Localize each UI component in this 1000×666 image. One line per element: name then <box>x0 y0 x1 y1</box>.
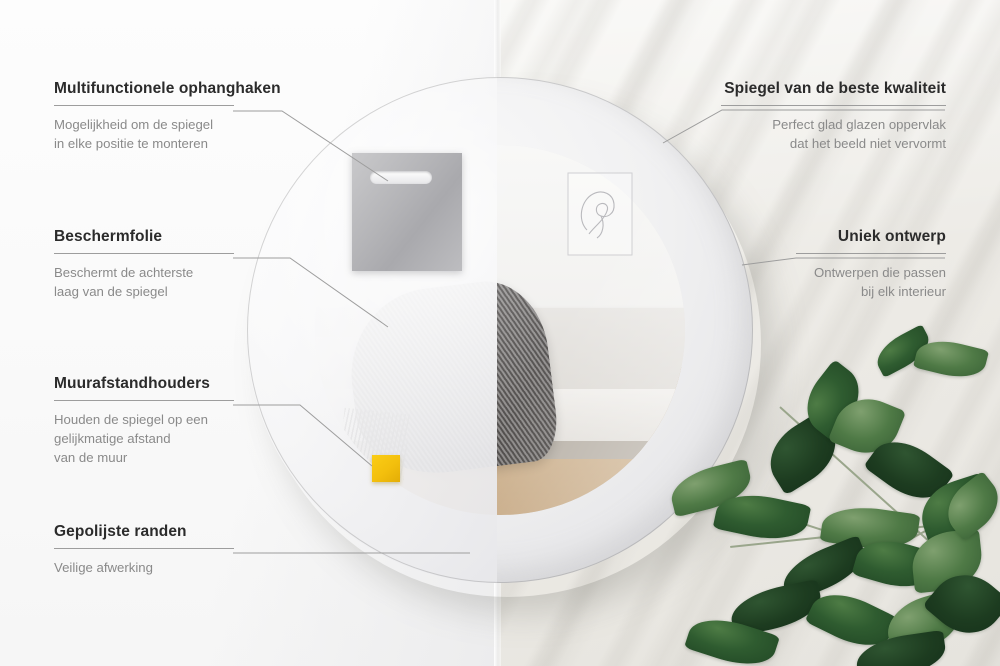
callout-title: Gepolijste randen <box>54 523 234 541</box>
bracket-keyhole-slot <box>370 171 432 184</box>
callout-muurafstandhouders: Muurafstandhouders Houden de spiegel op … <box>54 375 234 467</box>
infographic-stage: Multifunctionele ophanghaken Mogelijkhei… <box>0 0 1000 666</box>
callout-rule <box>54 548 234 549</box>
callout-description: Perfect glad glazen oppervlak dat het be… <box>721 115 946 153</box>
callout-gepolijste-randen: Gepolijste randen Veilige afwerking <box>54 523 234 577</box>
callout-rule <box>796 253 946 254</box>
callout-ontwerp: Uniek ontwerp Ontwerpen die passen bij e… <box>796 228 946 301</box>
callout-description: Houden de spiegel op een gelijkmatige af… <box>54 410 234 467</box>
callout-rule <box>721 105 946 106</box>
callout-rule <box>54 253 234 254</box>
callout-title: Spiegel van de beste kwaliteit <box>721 80 946 98</box>
callout-ophanghaken: Multifunctionele ophanghaken Mogelijkhei… <box>54 80 234 153</box>
hanging-bracket <box>352 153 462 271</box>
callout-rule <box>54 400 234 401</box>
decorative-plant <box>670 336 1000 666</box>
callout-beschermfolie: Beschermfolie Beschermt de achterste laa… <box>54 228 234 301</box>
callout-description: Ontwerpen die passen bij elk interieur <box>796 263 946 301</box>
glass-watermark-sticker <box>567 172 633 256</box>
callout-rule <box>54 105 234 106</box>
callout-description: Beschermt de achterste laag van de spieg… <box>54 263 234 301</box>
callout-description: Veilige afwerking <box>54 558 234 577</box>
callout-title: Uniek ontwerp <box>796 228 946 246</box>
callout-description: Mogelijkheid om de spiegel in elke posit… <box>54 115 234 153</box>
callout-kwaliteit: Spiegel van de beste kwaliteit Perfect g… <box>721 80 946 153</box>
wall-spacer <box>372 455 400 482</box>
callout-title: Beschermfolie <box>54 228 234 246</box>
callout-title: Multifunctionele ophanghaken <box>54 80 234 98</box>
callout-title: Muurafstandhouders <box>54 375 234 393</box>
